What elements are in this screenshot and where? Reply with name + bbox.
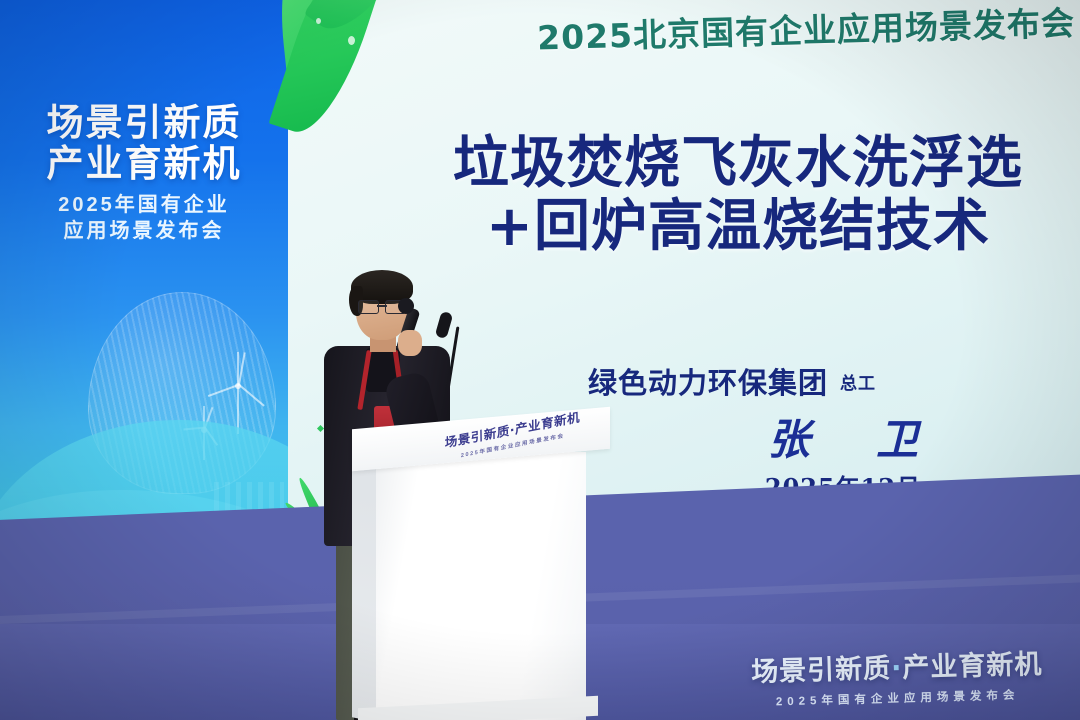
podium: 场景引新质·产业育新机 2025年国有企业应用场景发布会 [352, 418, 610, 720]
conference-photo: 场景引新质 产业育新机 2025年国有企业 应用场景发布会 [0, 0, 1080, 720]
speaker-hand [398, 330, 422, 356]
droplet-icon [316, 18, 321, 24]
bottom-banner-right: 产业育新机 [902, 649, 1043, 684]
event-header-title: 2025北京国有企业应用场景发布会 [525, 0, 1080, 60]
panel-sub-line2: 应用场景发布会 [16, 218, 272, 244]
wind-turbine-icon [214, 352, 262, 434]
bottom-banner-left: 场景引新质 [751, 653, 892, 688]
presentation-title-line2: +回炉高温烧结技术 [438, 195, 1038, 258]
panel-slogan-block: 场景引新质 产业育新机 2025年国有企业 应用场景发布会 [16, 102, 272, 244]
organization-name: 绿色动力环保集团 [588, 366, 828, 400]
speaker-role: 总工 [840, 374, 876, 394]
organization-line: 绿色动力环保集团总工 [588, 360, 1008, 402]
presentation-title-line1: 垃圾焚烧飞灰水洗浮选 [453, 131, 1023, 196]
panel-sub-line1: 2025年国有企业 [16, 192, 272, 218]
bottom-banner-dot: · [891, 653, 903, 684]
bottom-banner-line1: 场景引新质·产业育新机 [731, 641, 1062, 689]
speaker-name: 张 卫 [728, 406, 958, 467]
presentation-title: 垃圾焚烧飞灰水洗浮选 +回炉高温烧结技术 [438, 132, 1038, 259]
panel-slogan-line2: 产业育新机 [16, 143, 272, 184]
podium-front-face [376, 452, 586, 720]
bottom-stage-banner: 场景引新质·产业育新机 2025年国有企业应用场景发布会 [731, 641, 1063, 710]
panel-slogan-line1: 场景引新质 [16, 102, 272, 143]
droplet-icon [348, 36, 355, 45]
